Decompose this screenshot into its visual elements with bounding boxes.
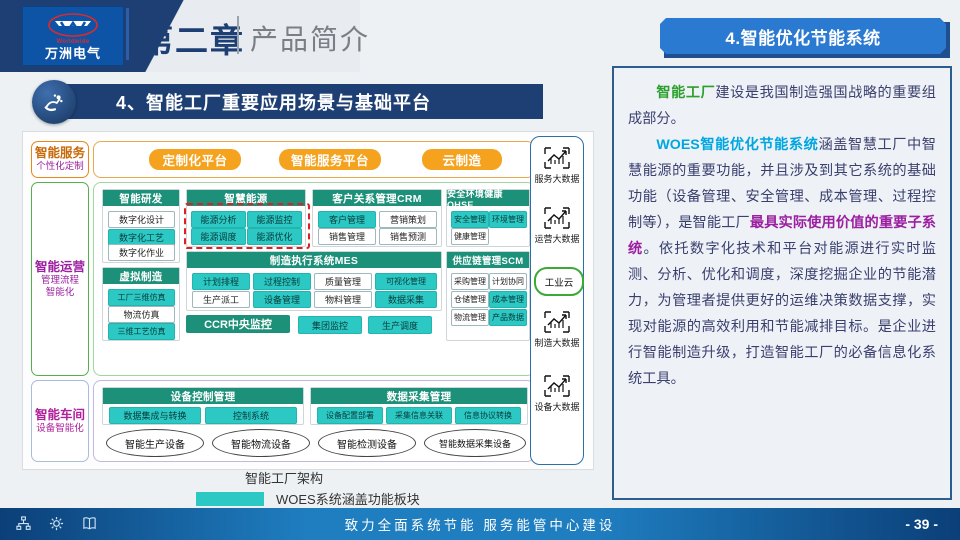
module-chip[interactable]: 信息协议转换	[455, 407, 521, 424]
module-chip[interactable]: 能源分析	[191, 211, 246, 228]
module-chip[interactable]: 三维工艺仿真	[108, 323, 175, 340]
module-chip[interactable]: 控制系统	[205, 407, 297, 424]
module-chip[interactable]: 销售管理	[318, 228, 376, 245]
module-chip[interactable]: 能源优化	[247, 228, 302, 245]
lane-subtitle: 设备智能化	[36, 423, 84, 435]
module-chip[interactable]: 采集信息关联	[386, 407, 452, 424]
section-badge-icon	[32, 80, 76, 124]
chart-icon	[542, 145, 572, 171]
module-card-scm: 供应链管理SCM 采购管理 计划协同 仓储管理 成本管理 物流管理 产品数据	[446, 251, 530, 341]
paragraph-2-b: 。依托数字化技术和平台对能源进行实时监测、分析、优化和调度，深度挖掘企业的节能潜…	[628, 241, 936, 387]
description-paragraph-2: WOES智能优化节能系统涵盖智慧工厂中智慧能源的重要功能，并且涉及到其它系统的基…	[628, 132, 936, 392]
module-chip[interactable]: 安全管理	[451, 211, 489, 228]
lane-body-workshop: 设备控制管理 数据集成与转换 控制系统 数据采集管理 设备配置部署 采集信息关联…	[93, 380, 535, 462]
title-divider	[237, 16, 239, 54]
module-title: 智慧能源	[187, 190, 305, 206]
equipment-oval[interactable]: 智能生产设备	[106, 429, 204, 457]
module-chip[interactable]: 产品数据	[489, 309, 527, 326]
lane-body-operation: 智能研发 数字化设计 数字化工艺 数字化作业 智慧能源 能源分析 能源监控 能源…	[93, 182, 535, 376]
module-chip[interactable]: 生产派工	[192, 291, 250, 308]
module-title: 数据采集管理	[311, 388, 527, 404]
module-card-device-control: 设备控制管理 数据集成与转换 控制系统	[102, 387, 304, 425]
module-chip[interactable]: 数据集成与转换	[109, 407, 201, 424]
chart-icon	[542, 205, 572, 231]
platform-label: 智能服务平台	[291, 150, 369, 169]
lane-title: 智能车间	[35, 408, 85, 423]
module-chip[interactable]: 计划协同	[489, 273, 527, 290]
platform-pill-cloud[interactable]: 云制造	[422, 149, 502, 170]
right-tab-label: 4.智能优化节能系统	[725, 24, 880, 49]
right-tab-face: 4.智能优化节能系统	[660, 18, 946, 54]
rail-item-label: 服务大数据	[534, 172, 579, 185]
rail-item-industrial-cloud[interactable]: 工业云	[534, 267, 584, 296]
lane-label-smart-workshop: 智能车间 设备智能化	[31, 380, 89, 462]
rail-item-label: 制造大数据	[534, 336, 579, 349]
module-title: 虚拟制造	[103, 268, 179, 284]
title-separator	[126, 8, 129, 60]
module-title: 制造执行系统MES	[187, 252, 441, 268]
module-card-smart-energy: 智慧能源 能源分析 能源监控 能源调度 能源优化	[186, 189, 306, 247]
module-chip[interactable]: 成本管理	[489, 291, 527, 308]
footer-slogan: 致力全面系统节能 服务能管中心建设	[0, 508, 960, 540]
lane-subtitle-2: 智能化	[46, 287, 75, 299]
logo-cn-text: 万洲电气	[45, 46, 101, 61]
module-chip[interactable]: 过程控制	[253, 273, 311, 290]
ccr-title: CCR中央监控	[204, 316, 272, 332]
module-chip[interactable]: 物流管理	[451, 309, 489, 326]
module-chip[interactable]: 计划排程	[192, 273, 250, 290]
module-title: 设备控制管理	[103, 388, 303, 404]
module-chip[interactable]: 仓储管理	[451, 291, 489, 308]
description-text: 智能工厂建设是我国制造强国战略的重要组成部分。 WOES智能优化节能系统涵盖智慧…	[614, 68, 950, 392]
chapter-title: 第二章	[140, 14, 245, 62]
module-title: 供应链管理SCM	[447, 252, 529, 268]
smart-factory-diagram: 智能服务 个性化定制 定制化平台 智能服务平台 云制造 智能运营 管理流程 智能…	[22, 131, 594, 470]
section-heading-label: 4、智能工厂重要应用场景与基础平台	[116, 89, 431, 115]
lane-title: 智能运营	[35, 260, 85, 275]
module-chip[interactable]: 物流仿真	[108, 306, 175, 323]
module-card-crm: 客户关系管理CRM 客户管理 营销策划 销售管理 销售预测	[312, 189, 442, 247]
keyword-woes: WOES智能优化节能系统	[656, 137, 818, 153]
lane-subtitle: 个性化定制	[36, 161, 84, 173]
logo-en-text: Worldwide	[57, 39, 90, 46]
chart-icon	[542, 373, 572, 399]
logo-mark-icon	[47, 12, 99, 38]
rail-item-service-bigdata[interactable]: 服务大数据	[531, 145, 583, 185]
lane-body-platforms: 定制化平台 智能服务平台 云制造	[93, 141, 535, 178]
module-chip[interactable]: 能源监控	[247, 211, 302, 228]
platform-label: 云制造	[442, 150, 481, 169]
rail-item-label: 运营大数据	[534, 232, 579, 245]
equipment-oval[interactable]: 智能数据采集设备	[424, 429, 526, 457]
section-heading-band: 4、智能工厂重要应用场景与基础平台	[58, 84, 543, 119]
module-chip[interactable]: 健康管理	[451, 228, 489, 245]
module-card-virtual-mfg: 虚拟制造 工厂三维仿真 物流仿真 三维工艺仿真	[102, 267, 180, 341]
module-chip[interactable]: 设备配置部署	[317, 407, 383, 424]
rail-item-equipment-bigdata[interactable]: 设备大数据	[531, 373, 583, 413]
platform-pill-custom[interactable]: 定制化平台	[149, 149, 241, 170]
module-chip[interactable]: 工厂三维仿真	[108, 289, 175, 306]
module-chip[interactable]: 质量管理	[314, 273, 372, 290]
company-logo: Worldwide 万洲电气	[22, 6, 124, 66]
equipment-oval[interactable]: 智能检测设备	[318, 429, 416, 457]
module-chip[interactable]: 销售预测	[379, 228, 437, 245]
module-chip[interactable]: 物料管理	[314, 291, 372, 308]
rail-item-manufacturing-bigdata[interactable]: 制造大数据	[531, 309, 583, 349]
cloud-icon-label: 工业云	[545, 275, 574, 289]
legend-color-swatch	[196, 492, 264, 506]
module-chip[interactable]: 采购管理	[451, 273, 489, 290]
module-title: 安全环境健康QHSE	[447, 190, 529, 206]
module-chip[interactable]: 可视化管理	[375, 273, 437, 290]
module-card-rnd: 智能研发 数字化设计 数字化工艺 数字化作业	[102, 189, 180, 263]
platform-label: 定制化平台	[162, 150, 227, 169]
module-chip[interactable]: 设备管理	[253, 291, 311, 308]
lane-title: 智能服务	[35, 146, 85, 161]
lane-label-smart-service: 智能服务 个性化定制	[31, 141, 89, 178]
rail-item-label: 设备大数据	[534, 400, 579, 413]
ccr-chip[interactable]: 生产调度	[368, 316, 432, 334]
module-chip[interactable]: 数据采集	[375, 291, 437, 308]
module-card-mes: 制造执行系统MES 计划排程 过程控制 质量管理 可视化管理 生产派工 设备管理…	[186, 251, 442, 311]
module-title: 客户关系管理CRM	[313, 190, 441, 206]
ccr-central-monitoring-bar[interactable]: CCR中央监控	[186, 315, 290, 333]
diagram-caption: 智能工厂架构	[245, 468, 323, 487]
module-chip[interactable]: 数字化设计	[108, 211, 175, 228]
module-card-data-acq: 数据采集管理 设备配置部署 采集信息关联 信息协议转换	[310, 387, 528, 425]
module-card-qhse: 安全环境健康QHSE 安全管理 环境管理 健康管理	[446, 189, 530, 247]
module-chip[interactable]: 客户管理	[318, 211, 376, 228]
right-tab-badge[interactable]: 4.智能优化节能系统	[660, 18, 950, 56]
chapter-subtitle: 产品简介	[250, 18, 370, 58]
page-number: - 39 -	[905, 508, 938, 540]
lane-subtitle-1: 管理流程	[41, 275, 79, 287]
module-title: 智能研发	[103, 190, 179, 206]
module-chip[interactable]: 能源调度	[191, 228, 246, 245]
ccr-chip[interactable]: 集团监控	[298, 316, 362, 334]
module-chip[interactable]: 数字化作业	[108, 244, 175, 261]
rail-item-operation-bigdata[interactable]: 运营大数据	[531, 205, 583, 245]
description-panel: 智能工厂建设是我国制造强国战略的重要组成部分。 WOES智能优化节能系统涵盖智慧…	[612, 66, 952, 500]
keyword-smart-factory: 智能工厂	[656, 85, 715, 101]
footer-bar: 致力全面系统节能 服务能管中心建设 - 39 -	[0, 508, 960, 540]
platform-pill-service[interactable]: 智能服务平台	[279, 149, 381, 170]
module-chip[interactable]: 营销策划	[379, 211, 437, 228]
lane-label-smart-operation: 智能运营 管理流程 智能化	[31, 182, 89, 376]
legend-label: WOES系统涵盖功能板块	[276, 489, 420, 508]
module-chip[interactable]: 环境管理	[489, 211, 527, 228]
big-data-rail: 服务大数据 运营大数据 工业云 制造大数据 设备大数据	[530, 136, 584, 465]
chart-icon	[542, 309, 572, 335]
equipment-oval[interactable]: 智能物流设备	[212, 429, 310, 457]
description-paragraph-1: 智能工厂建设是我国制造强国战略的重要组成部分。	[628, 80, 936, 132]
